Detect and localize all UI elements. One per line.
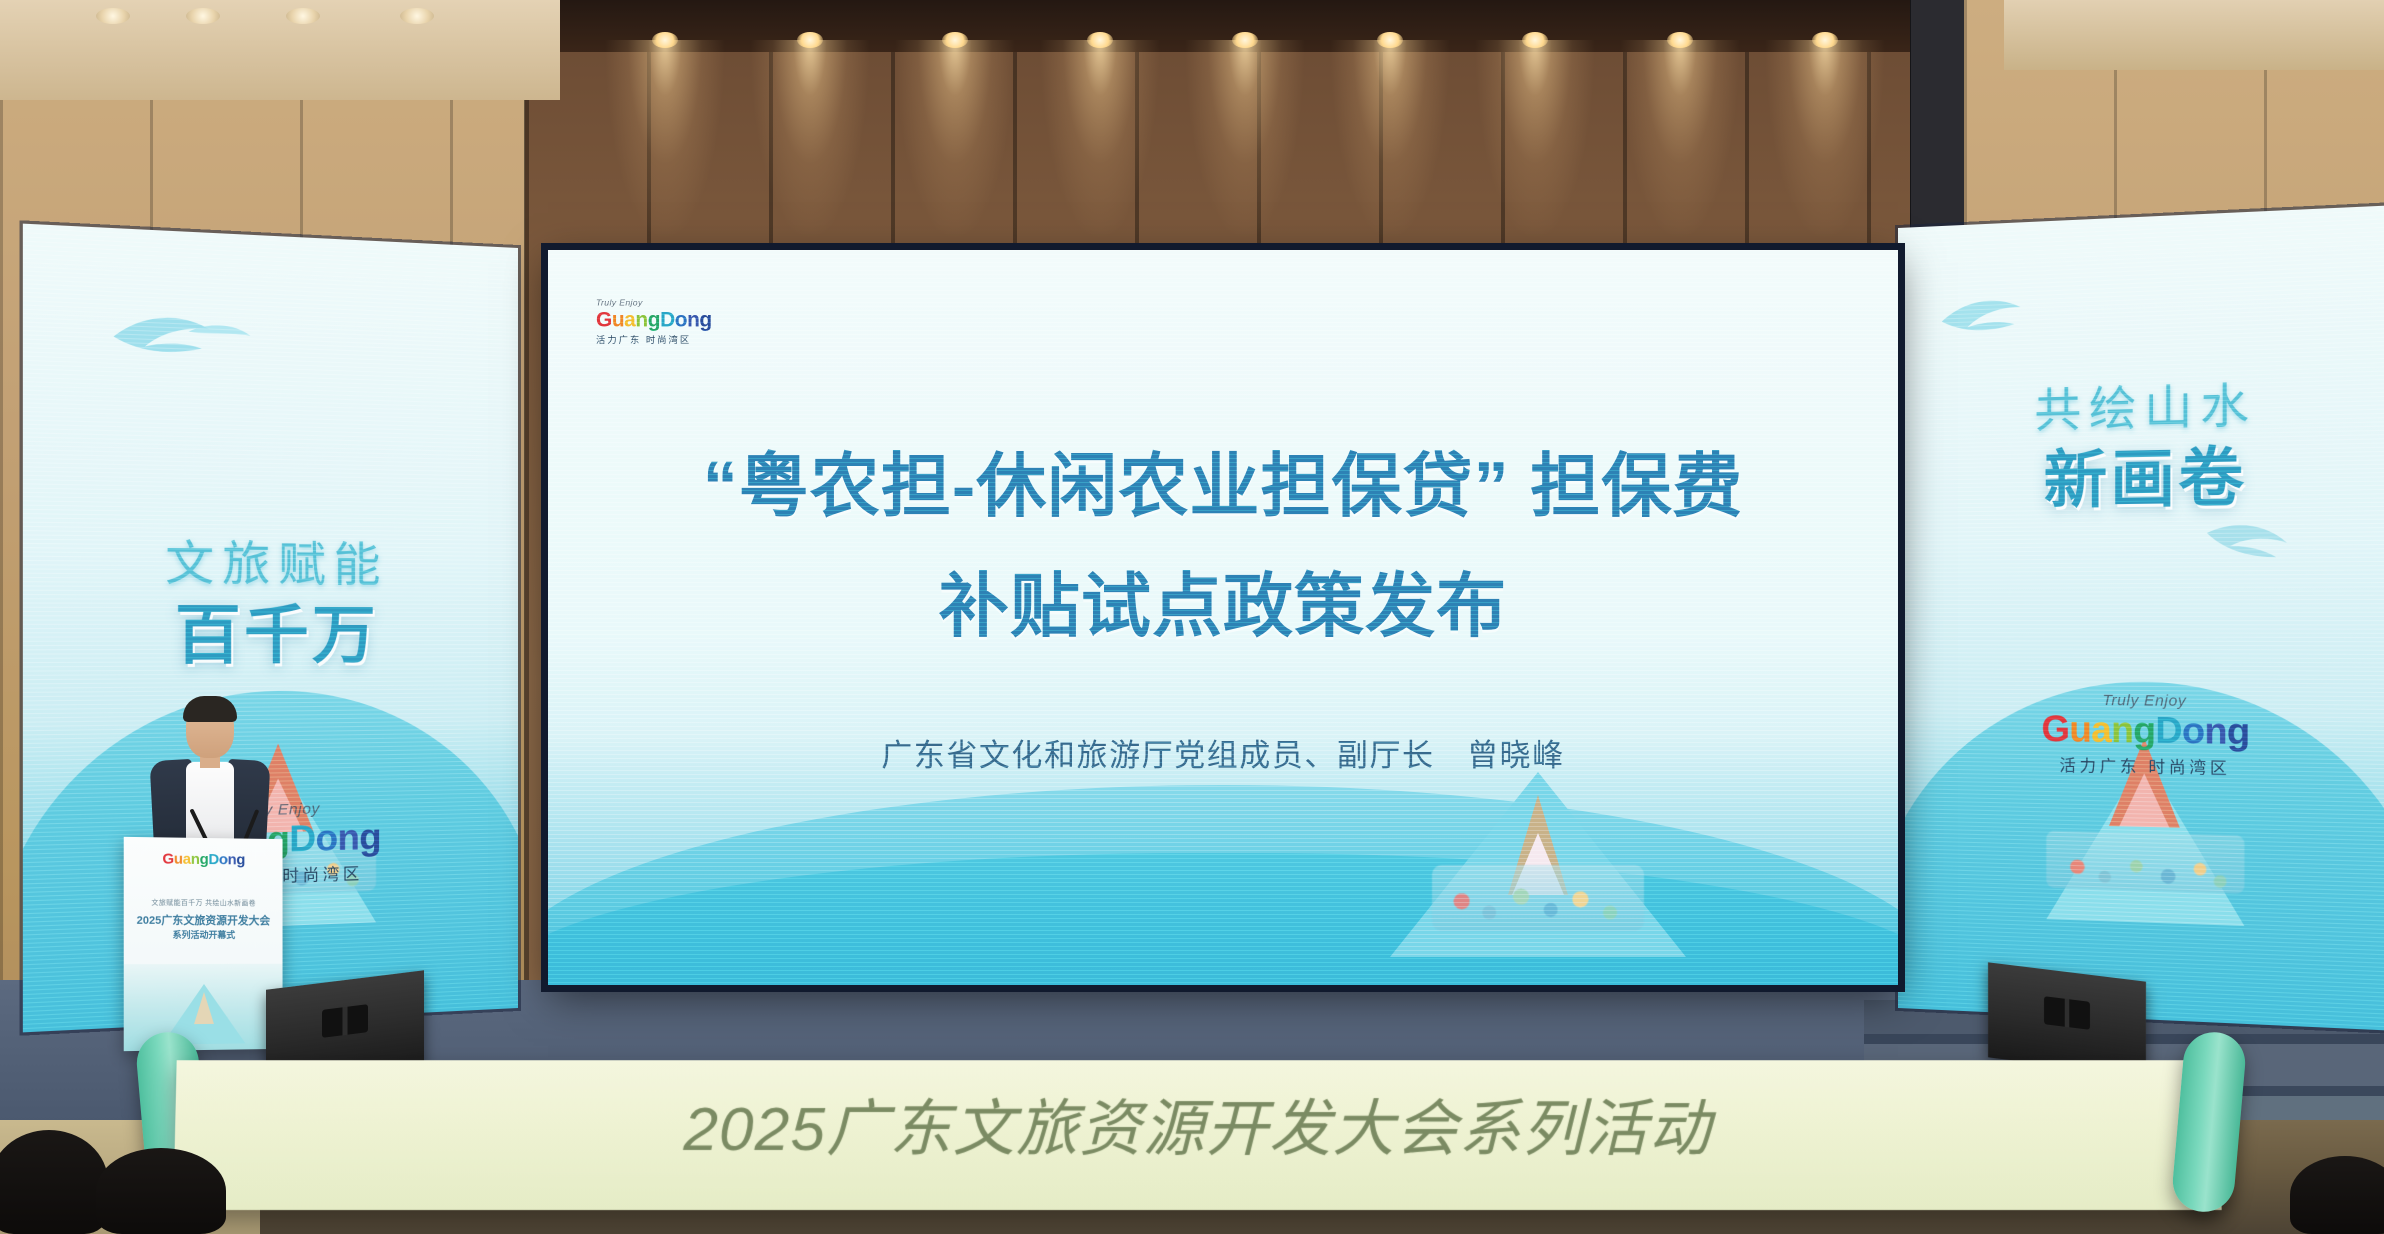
ceiling-left: [0, 0, 560, 100]
mountain-peak-icon: [194, 992, 214, 1024]
audience-head-silhouette: [0, 1130, 108, 1234]
ceiling-downlight-icon: [286, 8, 320, 24]
village-illustration-icon: [1432, 865, 1644, 931]
ceiling-downlight-icon: [186, 8, 220, 24]
swallow-bird-icon: [2198, 509, 2328, 586]
slide-title-line-2: 补贴试点政策发布: [548, 550, 1898, 651]
guangdong-tagline-cn: 活力广东 时尚湾区: [596, 332, 712, 346]
guangdong-brand-lockup-right: Truly Enjoy GuangDong 活力广东 时尚湾区: [1898, 690, 2384, 782]
ceiling-right: [2004, 0, 2384, 70]
podium-line-2: 2025广东文旅资源开发大会: [124, 912, 283, 929]
speaker-grille-icon: [322, 1004, 368, 1038]
audience-head-silhouette: [96, 1148, 226, 1234]
podium-line-1: 文旅赋能百千万 共绘山水新画卷: [124, 897, 283, 908]
mountain-scene-group: [1388, 767, 1688, 957]
podium: GuangDong 文旅赋能百千万 共绘山水新画卷 2025广东文旅资源开发大会…: [124, 837, 283, 1051]
banner-left-title-bottom: 百千万: [23, 581, 518, 677]
led-banner-right: 共绘山水 新画卷 Truly Enjoy GuangDong 活力广东 时尚湾区: [1898, 205, 2384, 1032]
podium-line-3: 系列活动开幕式: [124, 928, 283, 941]
slide-title-line-1: “粤农担-休闲农业担保贷” 担保费: [548, 430, 1898, 531]
slide-subtitle-speaker: 广东省文化和旅游厅党组成员、副厅长 曾晓峰: [548, 730, 1898, 775]
main-led-screen: Truly Enjoy GuangDong 活力广东 时尚湾区 “粤农担-休闲农…: [548, 250, 1898, 985]
hair: [183, 696, 237, 722]
ceiling-downlight-icon: [400, 8, 434, 24]
village-illustration-icon: [2046, 831, 2244, 894]
guangdong-wordmark: GuangDong: [596, 309, 712, 330]
speaker-person: [150, 700, 270, 860]
stage-photograph: 文旅赋能 百千万 Truly Enjoy GuangDong 活力广东 时尚湾区…: [0, 0, 2384, 1234]
swallow-bird-icon: [104, 294, 261, 387]
truly-enjoy-label: Truly Enjoy: [596, 298, 712, 308]
mountain-snowcap-icon: [2119, 773, 2169, 828]
speaker-grille-icon: [2044, 996, 2090, 1030]
ceiling-soffit: [525, 0, 1910, 52]
podium-brand-logo: GuangDong: [124, 851, 283, 868]
audience-head-silhouette: [2290, 1156, 2384, 1234]
banner-right-title-bottom: 新画卷: [1898, 421, 2384, 522]
swallow-bird-icon: [1933, 273, 2065, 364]
bottom-event-banner: 2025广东文旅资源开发大会系列活动: [173, 1060, 2221, 1210]
shirt: [186, 762, 234, 848]
ceiling-downlight-icon: [96, 8, 130, 24]
bottom-banner-text: 2025广东文旅资源开发大会系列活动: [174, 1078, 2220, 1168]
guangdong-brand-lockup-main-screen: Truly Enjoy GuangDong 活力广东 时尚湾区: [596, 298, 712, 346]
guangdong-wordmark: GuangDong: [1898, 709, 2384, 753]
